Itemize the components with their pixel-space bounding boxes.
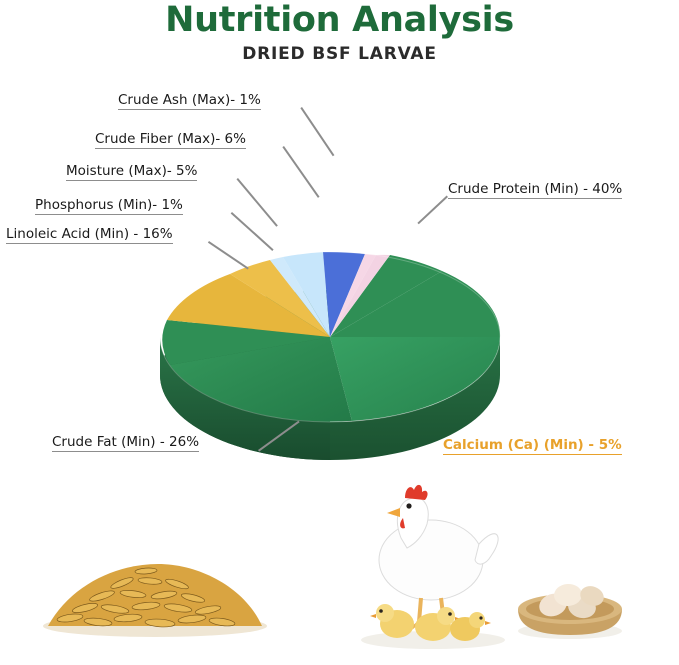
label-phosphorus: Phosphorus (Min)- 1% (35, 197, 183, 215)
hen-with-chicks-image (345, 472, 520, 652)
label-crude-protein: Crude Protein (Min) - 40% (448, 181, 622, 199)
photo-strip (0, 470, 679, 665)
page-subtitle: DRIED BSF LARVAE (0, 44, 679, 64)
poster-root: Nutrition Analysis DRIED BSF LARVAE (0, 0, 679, 665)
page-title: Nutrition Analysis (0, 0, 679, 40)
label-crude-fiber: Crude Fiber (Max)- 6% (95, 131, 246, 149)
eggs-basket-image (500, 565, 640, 640)
leader-crude-ash (301, 107, 335, 156)
label-linoleic-acid: Linoleic Acid (Min) - 16% (6, 226, 173, 244)
label-crude-ash: Crude Ash (Max)- 1% (118, 92, 261, 110)
label-calcium: Calcium (Ca) (Min) - 5% (443, 437, 622, 455)
label-moisture: Moisture (Max)- 5% (66, 163, 197, 181)
larvae-pile-image (40, 548, 270, 638)
label-crude-fat: Crude Fat (Min) - 26% (52, 434, 199, 452)
